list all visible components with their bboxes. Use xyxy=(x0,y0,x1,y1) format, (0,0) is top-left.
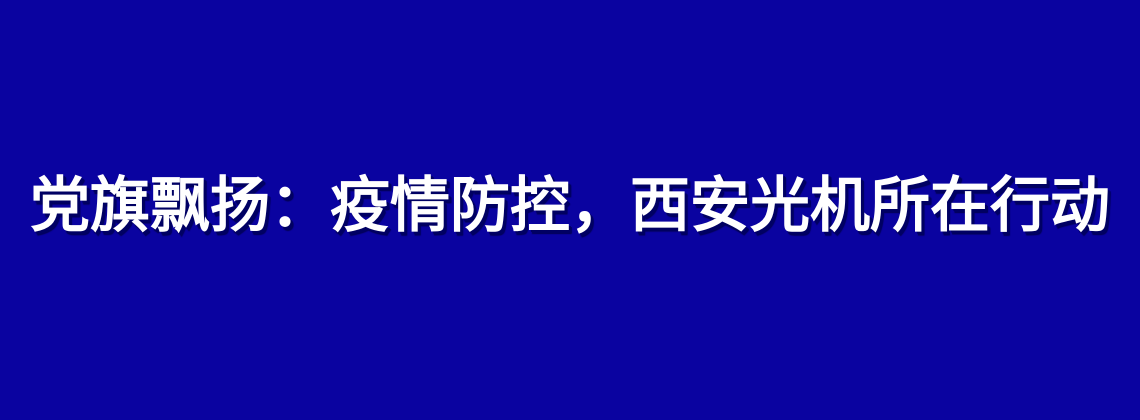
banner-headline: 党旗飘扬：疫情防控，西安光机所在行动 xyxy=(0,176,1140,238)
banner: 党旗飘扬：疫情防控，西安光机所在行动 xyxy=(0,0,1140,420)
